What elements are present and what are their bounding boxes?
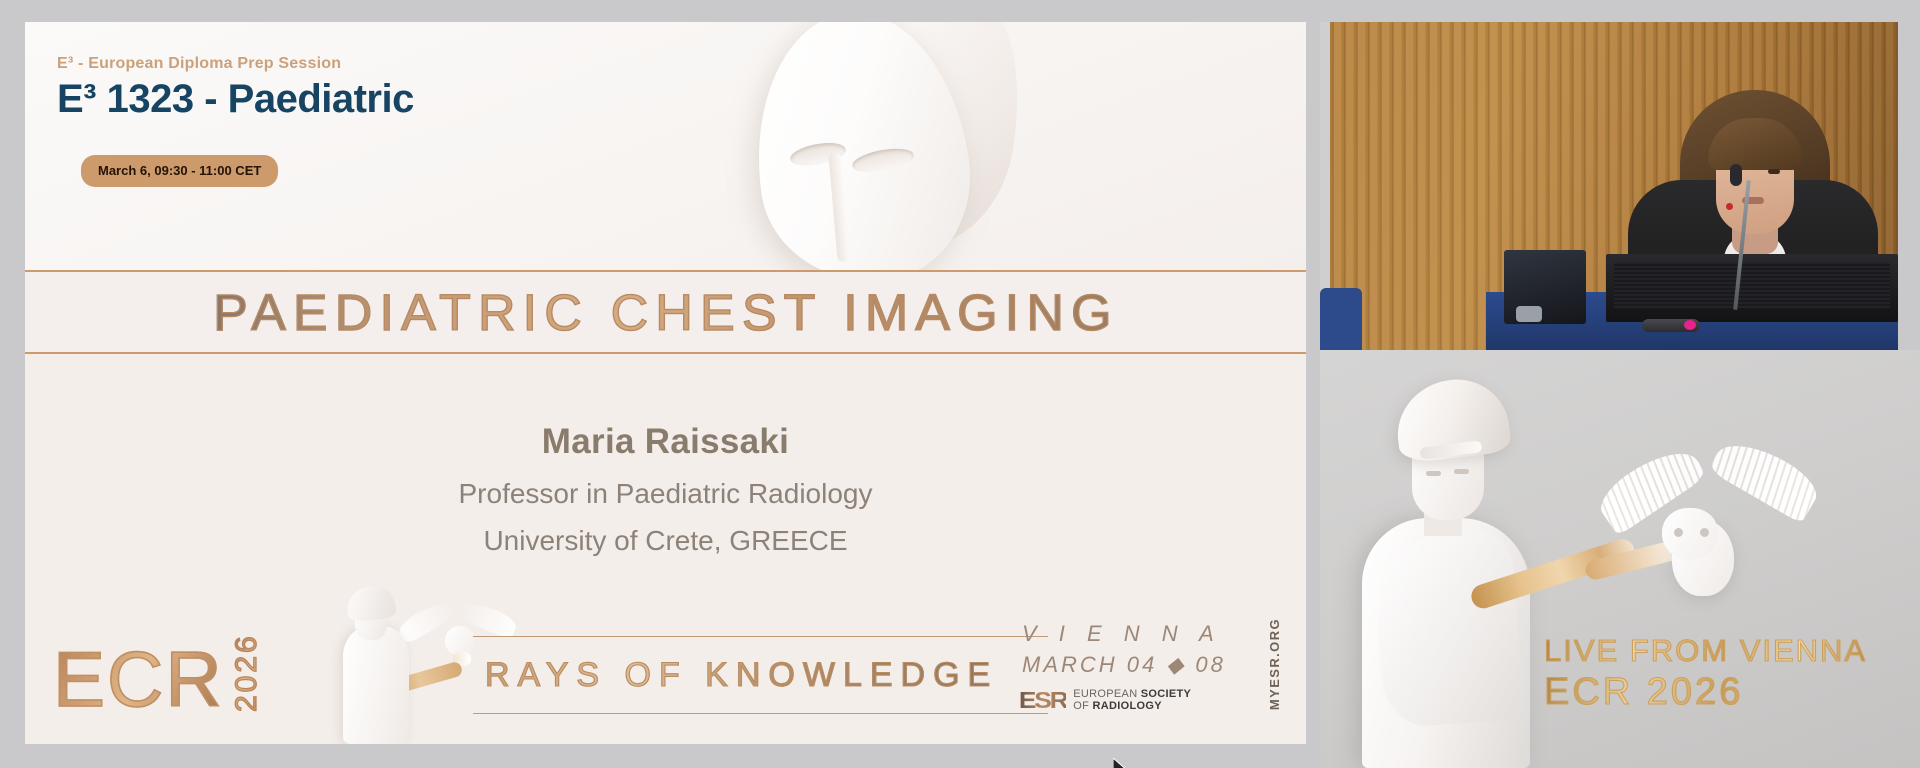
venue-block: V I E N N A MARCH 04 ◆ 08 ESR EUROPEAN S… <box>1022 621 1232 714</box>
chair <box>1320 288 1362 350</box>
live-overlay-line2: ECR 2026 <box>1544 671 1867 714</box>
branding-panel: LIVE FROM VIENNA ECR 2026 <box>1320 350 1920 768</box>
owl-graphic <box>1620 458 1810 628</box>
podium-monitor <box>1606 254 1898 322</box>
slide-header: E³ - European Diploma Prep Session E³ 13… <box>25 22 1306 270</box>
speaker-video-feed[interactable] <box>1320 22 1898 350</box>
mouse-cursor-icon <box>1113 758 1126 768</box>
tagline: RAYS OF KNOWLEDGE <box>473 656 998 695</box>
microphone-led <box>1726 203 1733 210</box>
lecture-title-band: PAEDIATRIC CHEST IMAGING <box>25 270 1306 354</box>
microphone-icon <box>1730 164 1742 186</box>
mouse-indicator <box>1684 320 1696 330</box>
esr-line2-bold: RADIOLOGY <box>1093 700 1162 712</box>
lecture-title: PAEDIATRIC CHEST IMAGING <box>213 283 1119 342</box>
session-eyebrow: E³ - European Diploma Prep Session <box>57 55 341 73</box>
equipment-lens-icon <box>1516 306 1542 322</box>
session-title: E³ 1323 - Paediatric <box>57 77 414 122</box>
ecr-logo-letters: ECR <box>53 642 224 716</box>
greek-helmet-icon <box>716 22 1056 292</box>
session-time-badge: March 6, 09:30 - 11:00 CET <box>81 155 278 187</box>
venue-city: V I E N N A <box>1022 621 1232 647</box>
esr-logo: ESR EUROPEAN SOCIETY OF RADIOLOGY <box>1022 687 1232 714</box>
speaker-organisation: University of Crete, GREECE <box>25 525 1306 557</box>
esr-line1-bold: SOCIETY <box>1141 688 1191 700</box>
live-overlay-line1: LIVE FROM VIENNA <box>1544 633 1867 669</box>
ecr-logo-year: 2026 <box>230 634 264 712</box>
esr-website: MYESR.ORG <box>1267 618 1282 710</box>
screen: E³ - European Diploma Prep Session E³ 13… <box>0 0 1920 768</box>
ecr-logo: ECR 2026 <box>53 634 264 716</box>
speaker-name: Maria Raissaki <box>25 422 1306 462</box>
esr-line1-light: EUROPEAN <box>1073 688 1141 700</box>
speaker-role: Professor in Paediatric Radiology <box>25 478 1306 510</box>
live-overlay: LIVE FROM VIENNA ECR 2026 <box>1544 633 1867 714</box>
presentation-slide[interactable]: E³ - European Diploma Prep Session E³ 13… <box>25 22 1306 744</box>
tagline-box: RAYS OF KNOWLEDGE <box>473 636 1048 714</box>
venue-dates: MARCH 04 ◆ 08 <box>1022 652 1232 678</box>
esr-line2-light: OF <box>1073 700 1092 712</box>
esr-logo-mark: ESR <box>1019 687 1066 714</box>
